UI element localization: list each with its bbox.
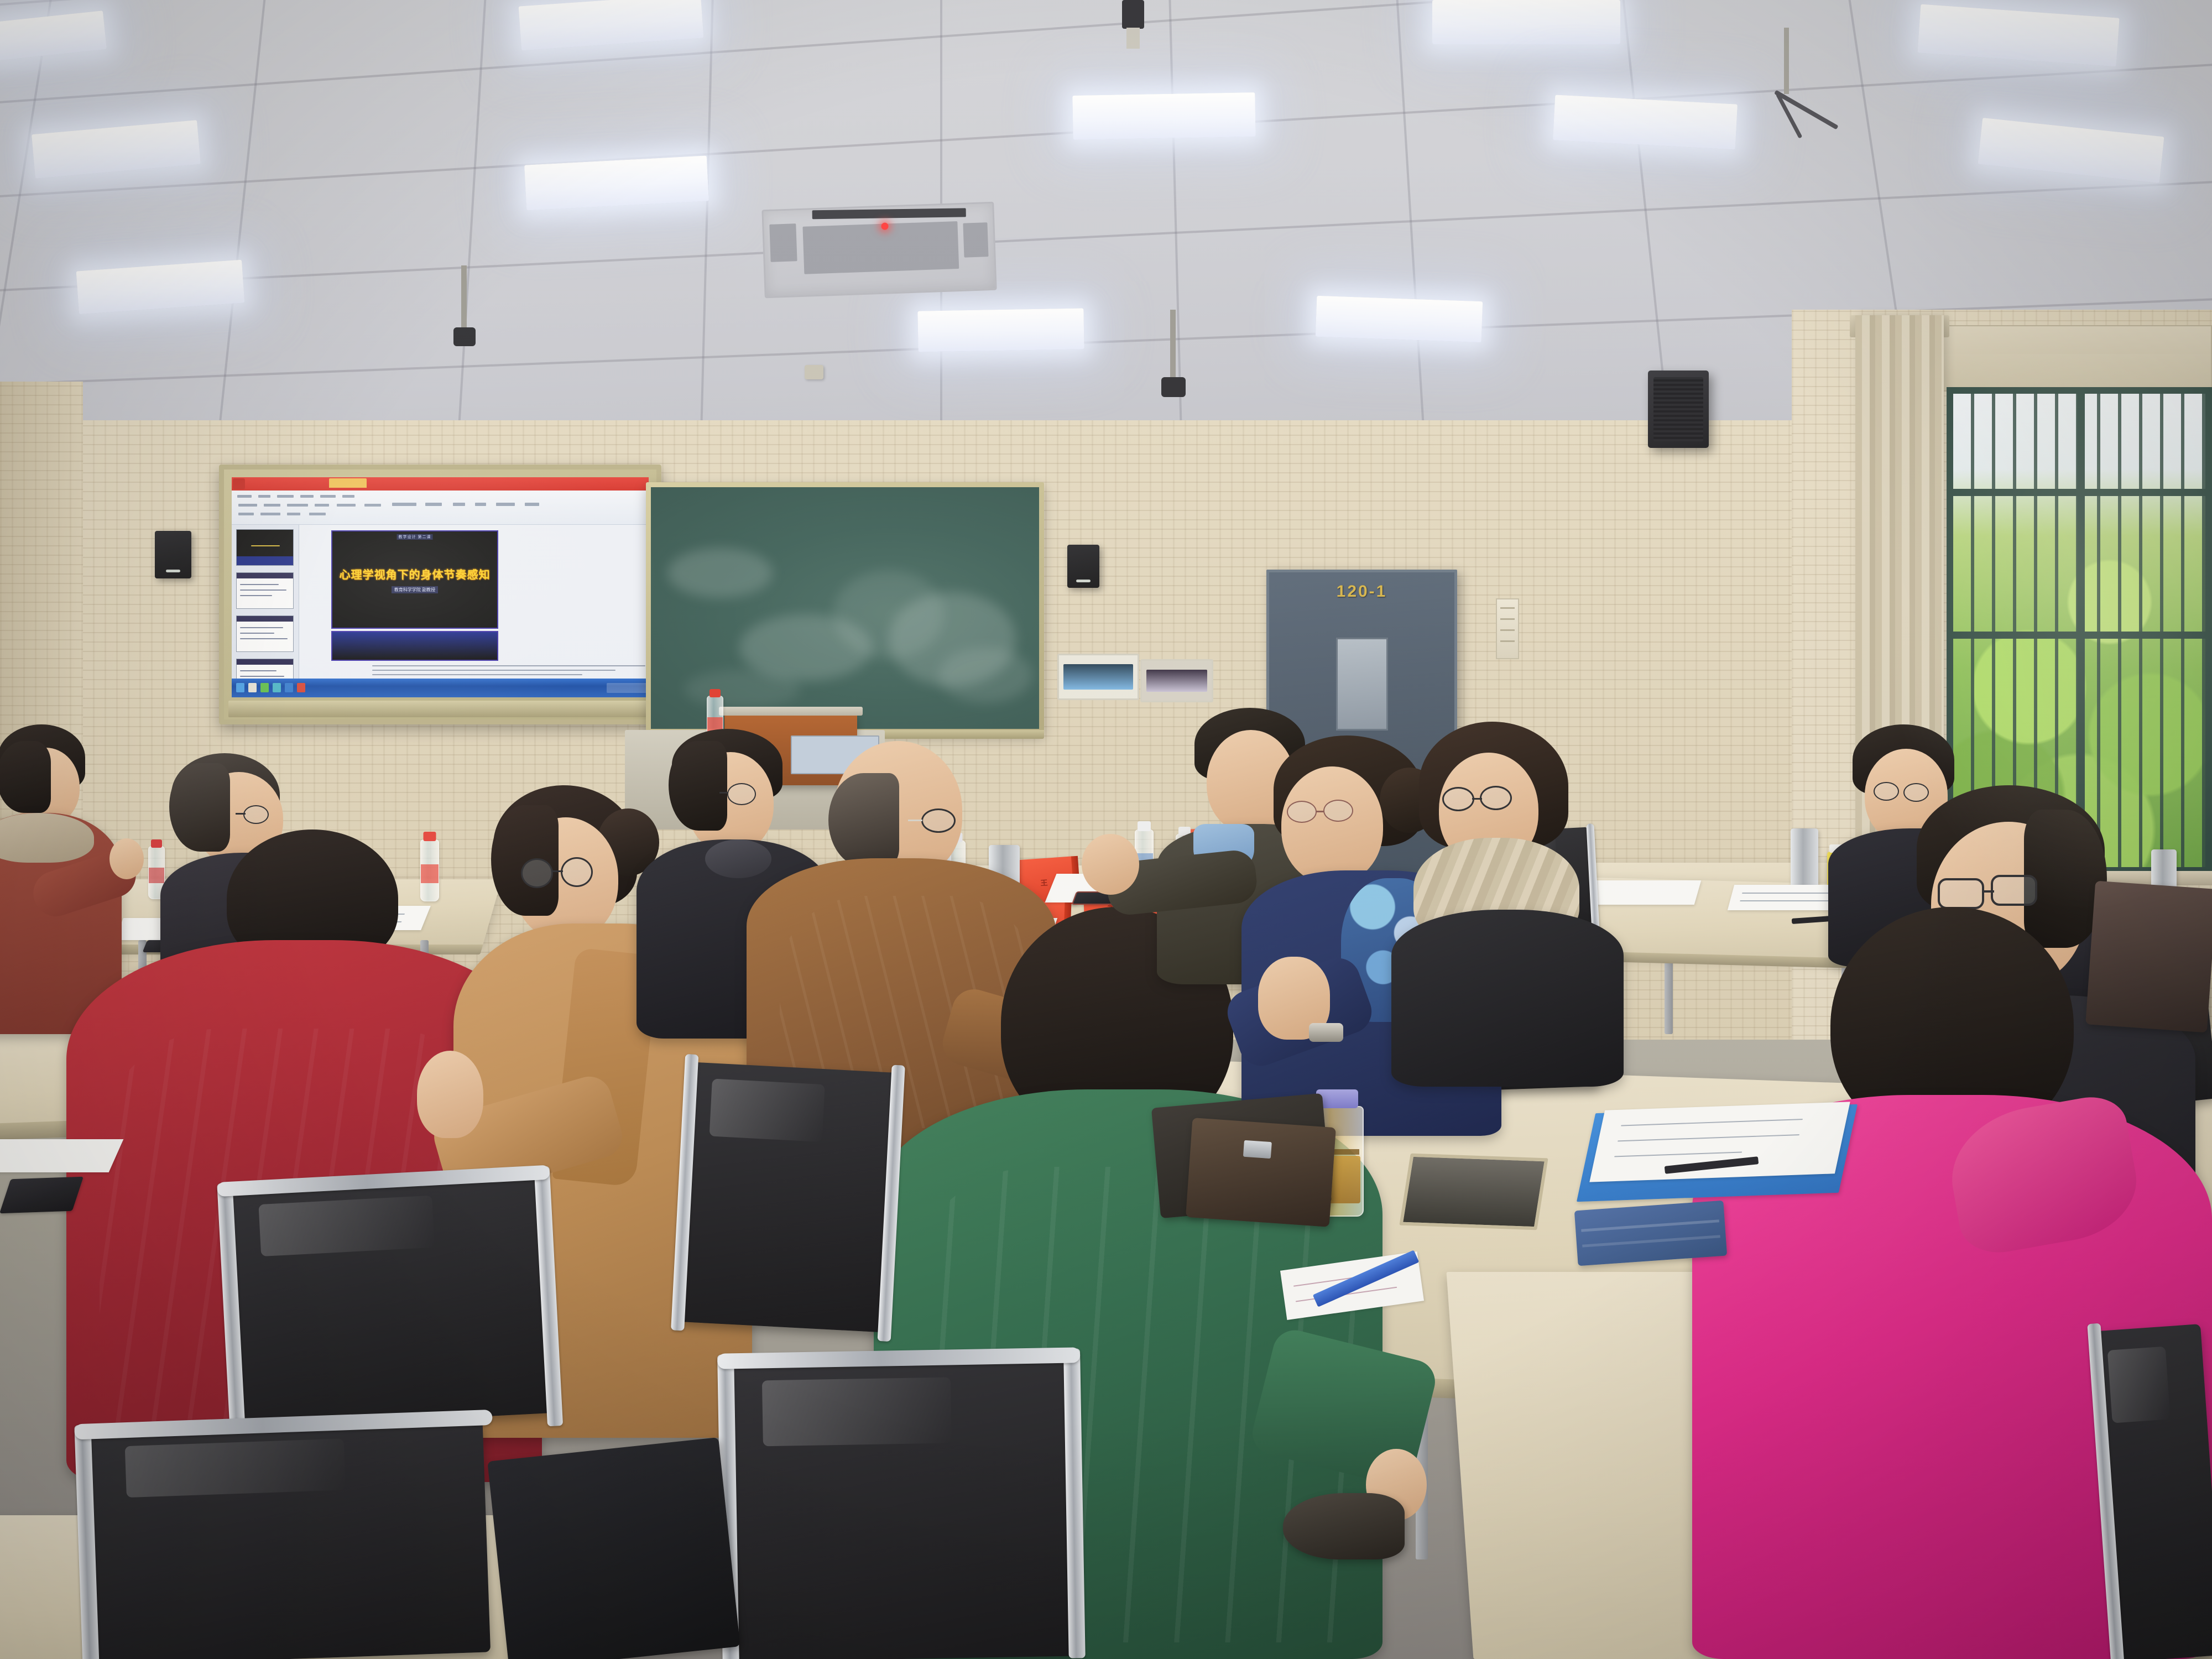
- ceiling-camera-mount: [453, 265, 476, 354]
- window-mullion: [1953, 632, 2205, 639]
- eyeglasses: [727, 783, 756, 805]
- torso: [1391, 910, 1624, 1087]
- slide-editing-stage: 教学设计 第二课 心理学视角下的身体节奏感知 教育科学学院 副教授: [299, 525, 649, 679]
- window-mullion: [1953, 489, 2205, 496]
- hair: [669, 741, 727, 831]
- mobile-phone[interactable]: [0, 1177, 84, 1213]
- ceiling-light-panel: [917, 308, 1084, 352]
- slide-thumbnail-pane[interactable]: [232, 525, 299, 679]
- table-cable-cutout: [1399, 1154, 1548, 1230]
- chair[interactable]: [226, 1175, 554, 1429]
- powerpoint-title-bar: [232, 477, 649, 491]
- slide-header-text: 教学设计 第二课: [397, 534, 433, 540]
- windows-taskbar[interactable]: [232, 679, 649, 697]
- hair: [0, 741, 51, 813]
- ceiling-camera-mount: [1161, 310, 1186, 415]
- hair: [828, 773, 899, 867]
- classroom-photograph: 教学设计 第二课 心理学视角下的身体节奏感知 教育科学学院 副教授: [0, 0, 2212, 1659]
- ceiling-air-conditioner: [761, 202, 997, 299]
- ceiling-light-panel: [524, 155, 709, 210]
- leather-bag: [1186, 1118, 1336, 1227]
- folded-navy-cloth: [1574, 1201, 1727, 1266]
- bag-on-floor: [487, 1437, 740, 1659]
- current-slide: 教学设计 第二课 心理学视角下的身体节奏感知 教育科学学院 副教授: [331, 530, 498, 629]
- ceiling-light-panel: [1432, 0, 1620, 44]
- wall-control-panel[interactable]: [1140, 659, 1213, 702]
- eyeglasses: [921, 808, 956, 833]
- room-number-sign: 120-1: [1337, 582, 1387, 601]
- chalkboard: [646, 482, 1044, 734]
- projector-screen: 教学设计 第二课 心理学视角下的身体节奏感知 教育科学学院 副教授: [219, 465, 661, 724]
- eyeglasses: [1287, 801, 1317, 823]
- hand: [1082, 834, 1139, 895]
- eyeglasses: [1480, 786, 1512, 810]
- eyeglasses: [243, 805, 269, 824]
- hair: [491, 805, 559, 916]
- slide-thumbnail[interactable]: [236, 529, 294, 566]
- chair[interactable]: [2095, 1324, 2212, 1659]
- eyeglasses: [521, 858, 553, 888]
- window-valance: [1936, 325, 2212, 392]
- slide-footer-band: [331, 631, 498, 661]
- slide-title-text: 心理学视角下的身体节奏感知: [340, 566, 491, 582]
- wall-speaker: [155, 531, 191, 578]
- chair[interactable]: [679, 1062, 897, 1333]
- powerpoint-ribbon: [232, 491, 649, 525]
- ceiling-light-panel: [1553, 95, 1738, 149]
- wall-speaker: [1067, 545, 1099, 588]
- ceiling-light-panel: [1316, 296, 1483, 342]
- wall-control-panel[interactable]: [1057, 654, 1139, 700]
- wall-speaker-large: [1648, 371, 1709, 448]
- shoe: [1283, 1493, 1405, 1559]
- slide-thumbnail[interactable]: [236, 659, 294, 679]
- head: [1281, 766, 1383, 884]
- slide-thumbnail[interactable]: [236, 615, 294, 652]
- turtleneck: [705, 839, 771, 878]
- eyeglasses: [1323, 800, 1353, 822]
- ceiling-light-panel: [1072, 92, 1255, 140]
- handout-paper: [0, 1139, 123, 1172]
- door-notice-board: [1496, 598, 1519, 659]
- person-black-coat-beige-scarf: [1399, 722, 1620, 1087]
- backpack: [2085, 881, 2212, 1033]
- hand: [417, 1051, 483, 1138]
- chair[interactable]: [85, 1420, 491, 1659]
- chair[interactable]: [727, 1358, 1075, 1659]
- projector-arm: [1759, 28, 1847, 133]
- vacuum-flask: [1791, 828, 1818, 894]
- eyeglasses: [1991, 875, 2037, 906]
- eyeglasses: [1938, 878, 1984, 909]
- system-tray[interactable]: [607, 683, 646, 693]
- screen-tray: [228, 701, 652, 717]
- powerpoint-window: 教学设计 第二课 心理学视角下的身体节奏感知 教育科学学院 副教授: [232, 477, 649, 697]
- slide-subtitle-text: 教育科学学院 副教授: [392, 586, 438, 593]
- wristwatch: [1309, 1023, 1343, 1042]
- eyeglasses: [1442, 787, 1474, 811]
- wall-sensor: [805, 365, 823, 379]
- slide-thumbnail[interactable]: [236, 572, 294, 609]
- ceiling-camera-mount: [1120, 0, 1147, 50]
- office-button-icon[interactable]: [233, 478, 245, 489]
- eyeglasses: [561, 857, 593, 887]
- handout-paper: [1589, 1102, 1850, 1182]
